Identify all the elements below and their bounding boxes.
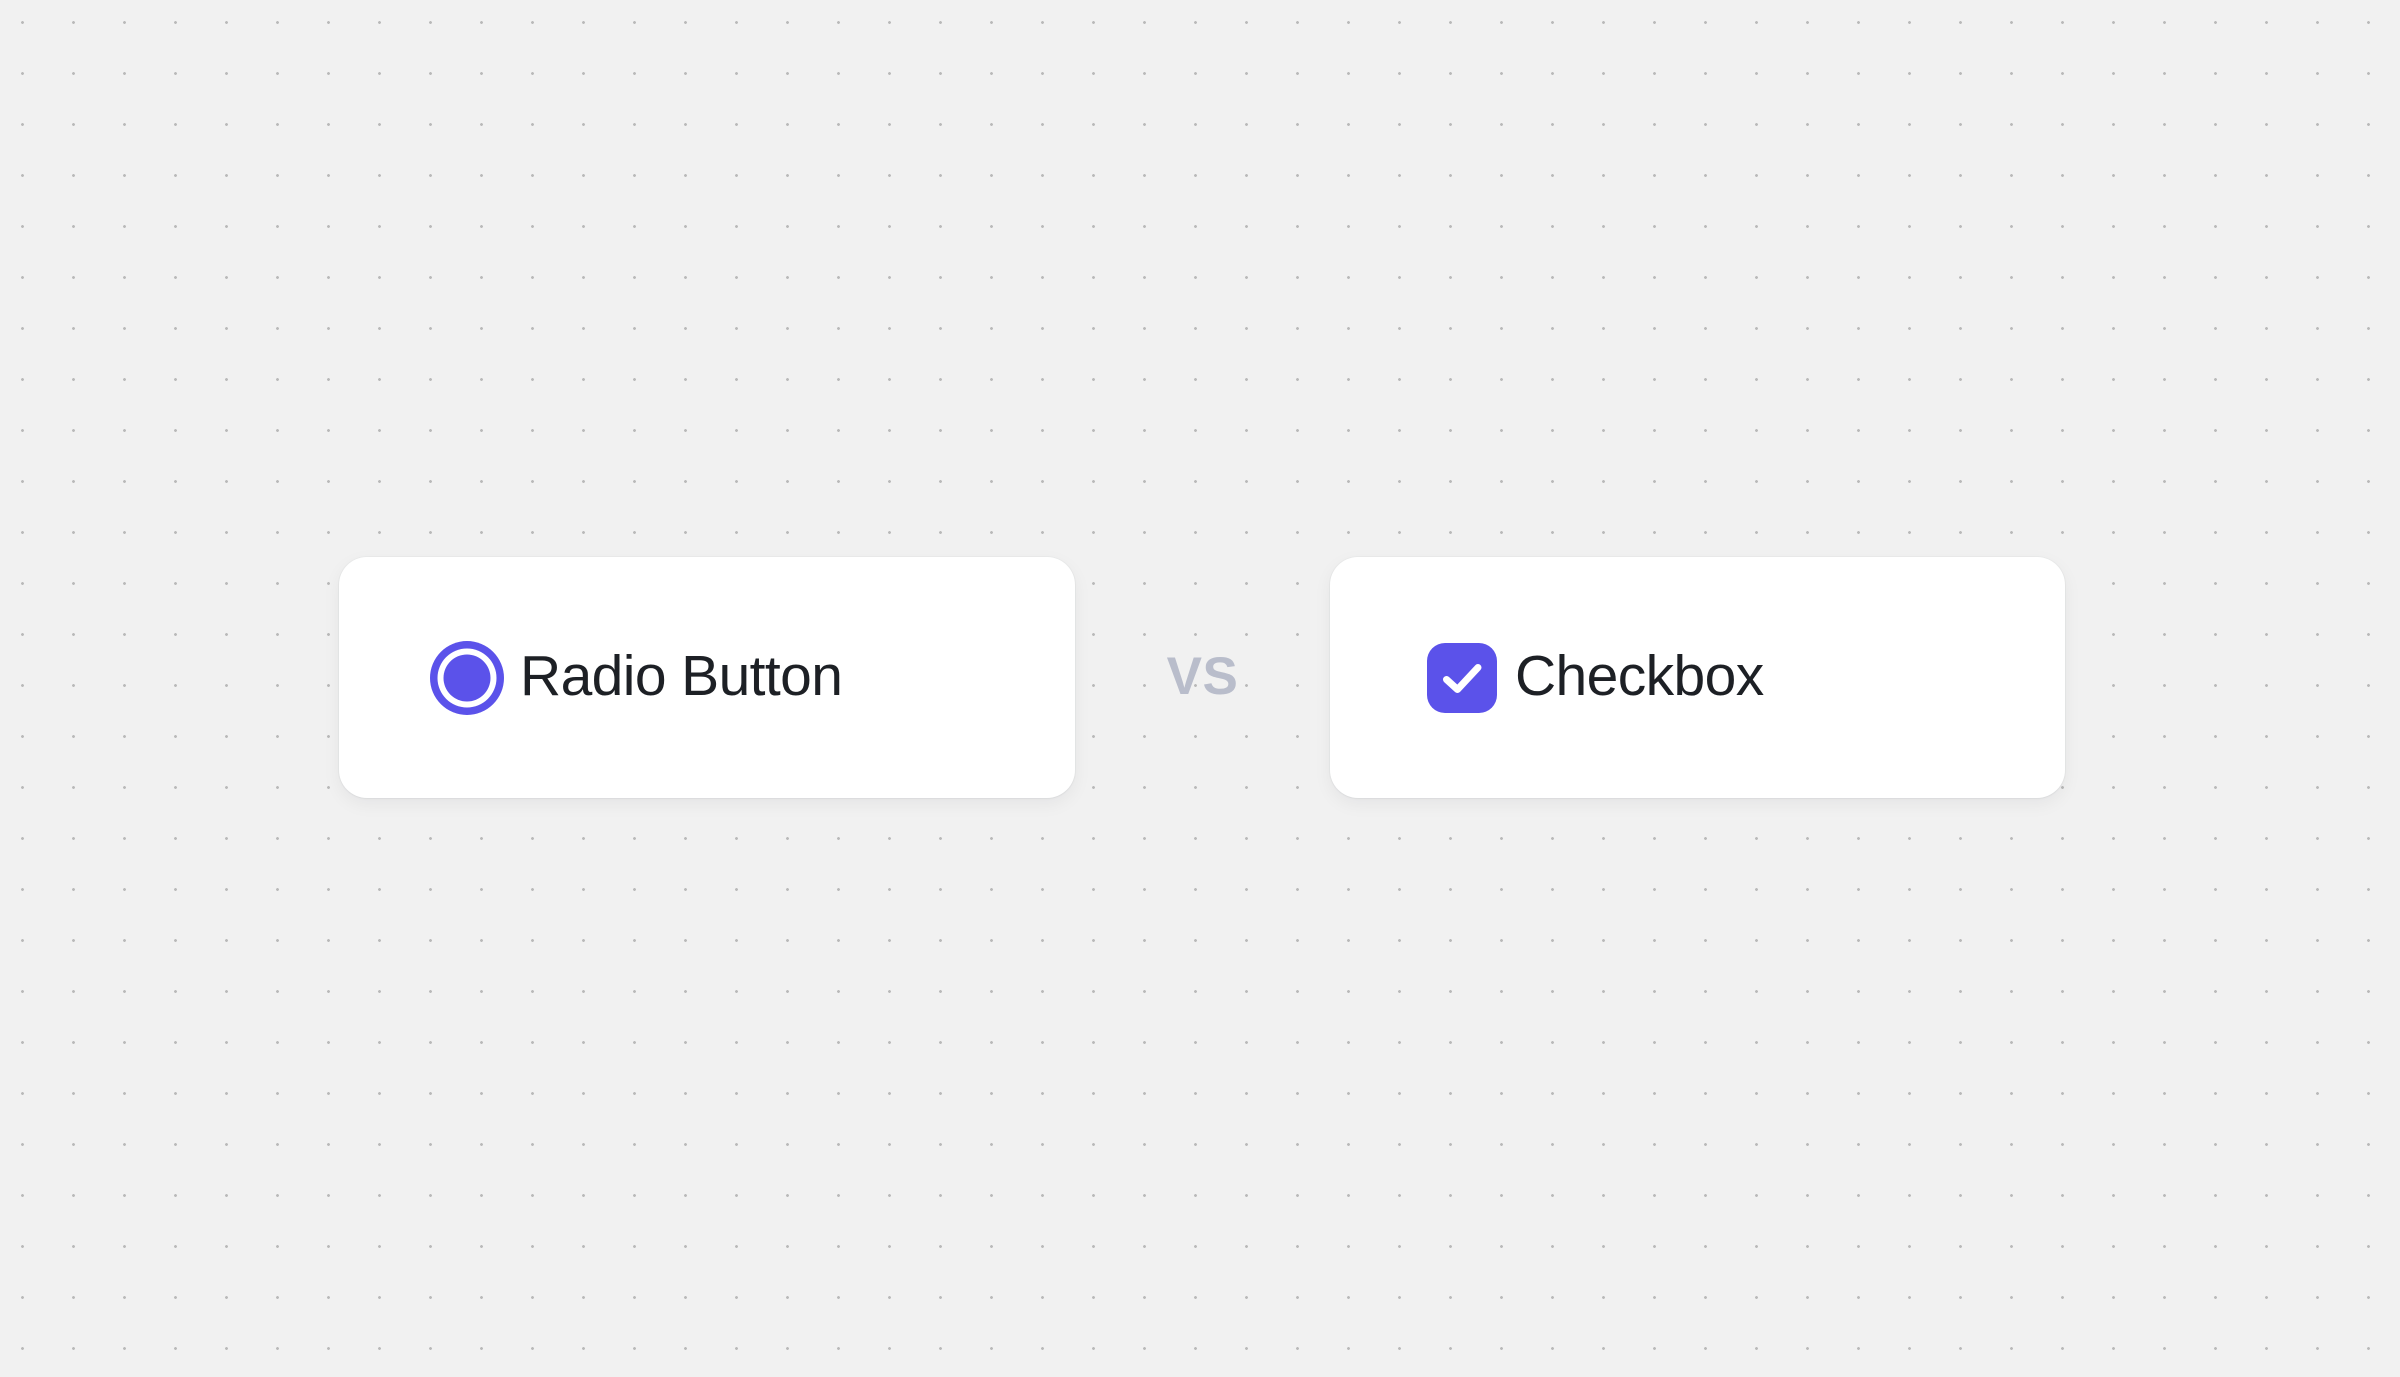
radio-selected-icon[interactable]	[429, 640, 505, 716]
versus-separator: VS	[1167, 650, 1239, 705]
page-canvas: Radio Button VS Checkbox	[0, 0, 2400, 1377]
radio-button-card[interactable]: Radio Button	[339, 557, 1075, 798]
checkbox-card[interactable]: Checkbox	[1330, 557, 2065, 798]
checkbox-checked-icon[interactable]	[1427, 643, 1497, 713]
radio-button-card-content: Radio Button	[339, 640, 842, 716]
checkbox-card-content: Checkbox	[1330, 643, 1764, 713]
radio-button-label: Radio Button	[520, 648, 842, 705]
comparison-row: Radio Button VS Checkbox	[339, 557, 2065, 798]
checkbox-label: Checkbox	[1515, 648, 1764, 705]
